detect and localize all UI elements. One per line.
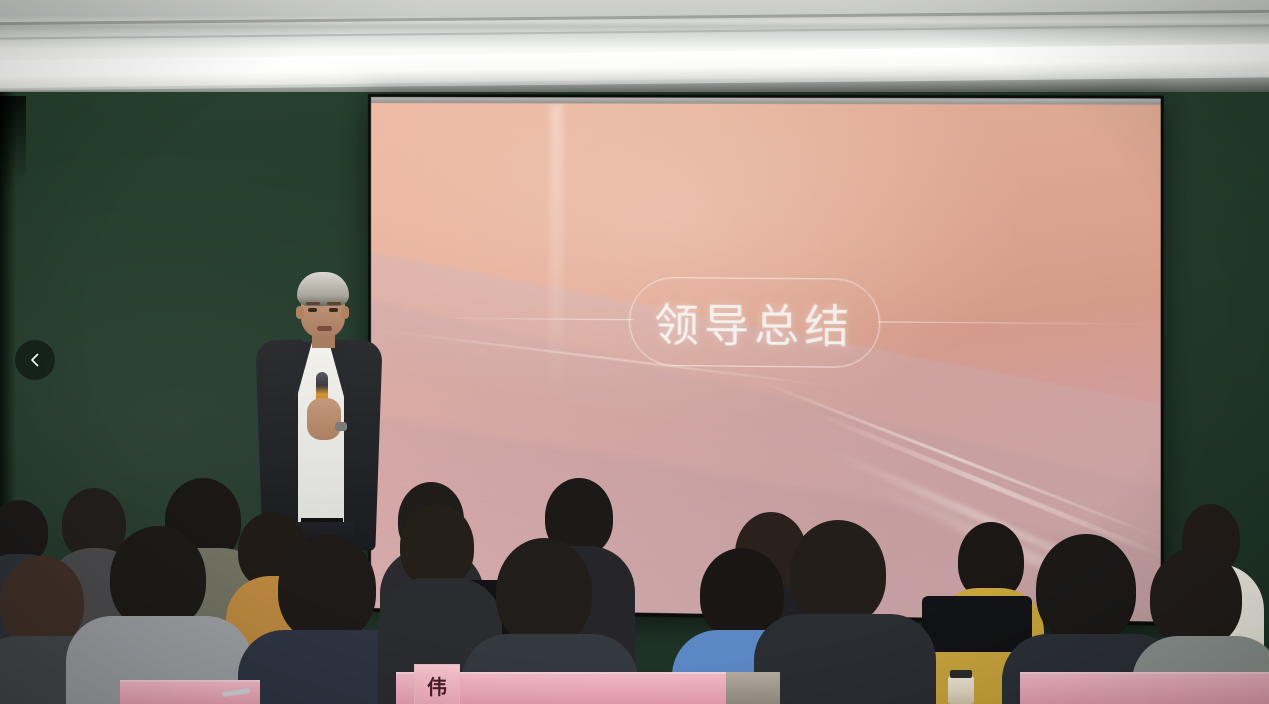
- previous-slide-button[interactable]: [15, 340, 55, 380]
- projector-streak: [550, 103, 563, 405]
- projection-screen: 领导总结: [368, 94, 1164, 626]
- slide-dune-shape: [371, 409, 1161, 622]
- speaker-eyebrow: [306, 302, 320, 305]
- speaker-wristwatch: [335, 422, 347, 431]
- table-cloth: [1020, 672, 1269, 704]
- speaker-presenter: [251, 272, 387, 572]
- ceiling: [0, 0, 1269, 98]
- speaker-eyebrow: [327, 302, 341, 305]
- speaker-mouth: [317, 326, 332, 331]
- bottle-cap: [950, 670, 972, 678]
- speaker-lapel-right: [329, 342, 346, 404]
- photo-viewer-stage: 领导总结: [0, 0, 1269, 704]
- water-bottle: [948, 676, 974, 704]
- slide-title-pill: 领导总结: [629, 277, 881, 368]
- slide-title-rule-left: [431, 318, 633, 321]
- chevron-left-icon: [27, 352, 43, 368]
- slide-light-streak: [868, 479, 1158, 619]
- speaker-eye: [329, 308, 338, 312]
- speaker-eye: [308, 308, 317, 312]
- speaker-hands: [307, 398, 341, 440]
- slide-surface: 领导总结: [371, 103, 1161, 622]
- slide-light-streak: [819, 444, 1156, 596]
- slide-title: 领导总结: [654, 289, 854, 355]
- speaker-ear: [296, 306, 304, 319]
- slide-light-streak: [749, 376, 1161, 541]
- slide-title-rule-right: [878, 321, 1158, 324]
- speaker-lapel-left: [295, 342, 312, 404]
- speaker-hair: [297, 272, 349, 306]
- place-name-card: 伟: [414, 664, 460, 704]
- wall-corner-shadow: [0, 96, 26, 216]
- speaker-ear: [341, 306, 349, 319]
- speaker-trousers: [283, 522, 353, 582]
- ceiling-rail: [0, 24, 1269, 39]
- slide-light-streak: [809, 409, 1160, 564]
- ceiling-rail: [0, 10, 1269, 25]
